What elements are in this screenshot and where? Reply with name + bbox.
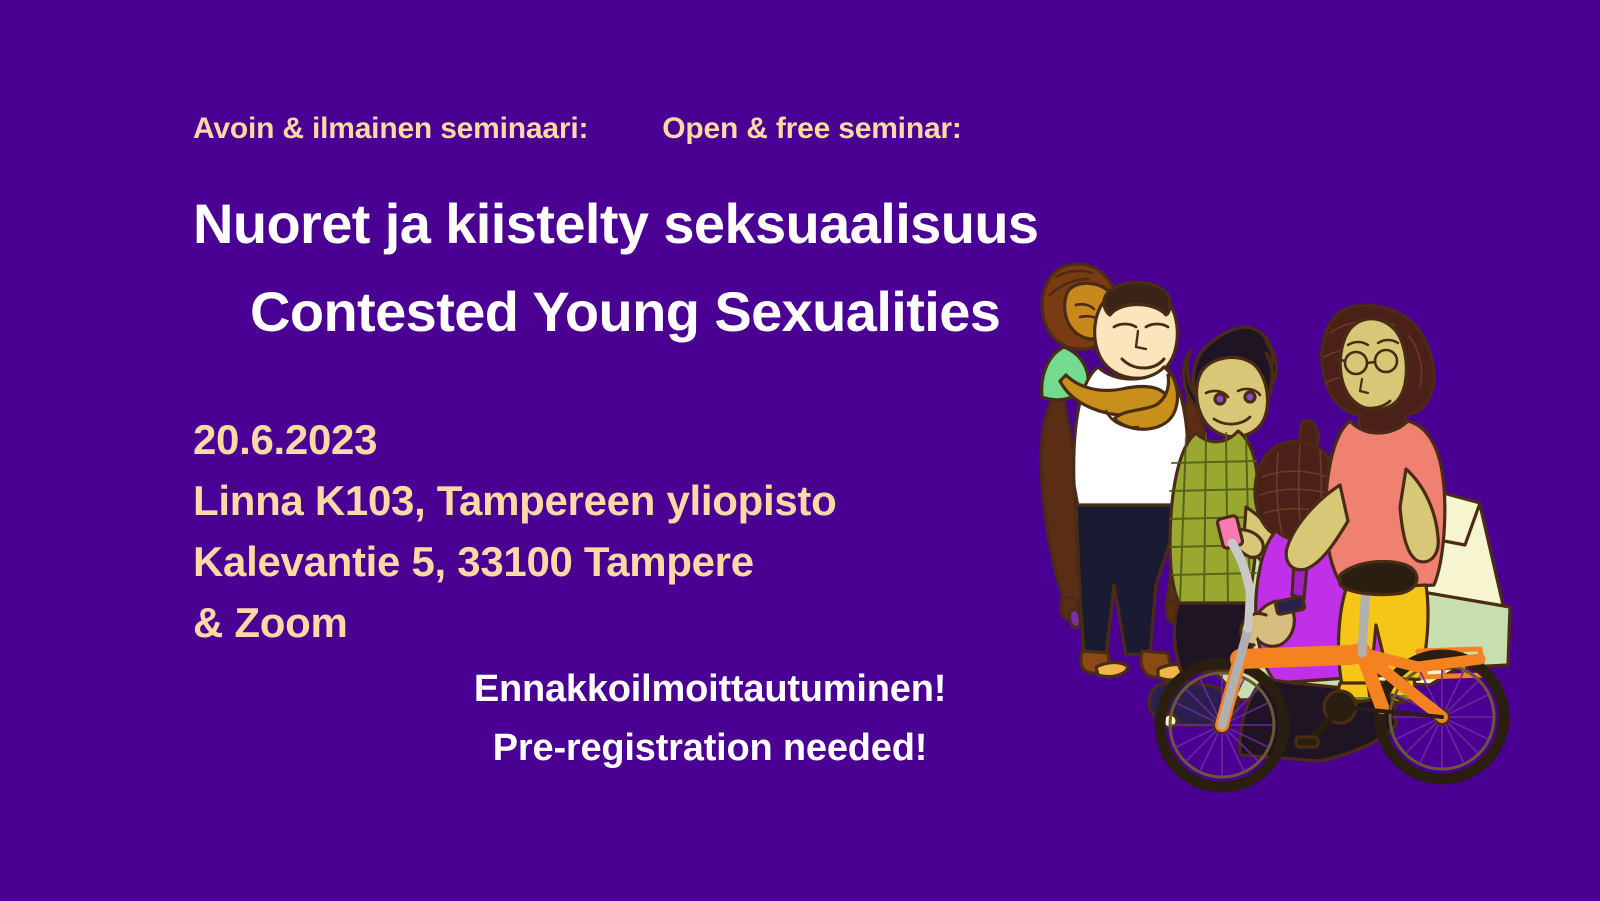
- event-venue: Linna K103, Tampereen yliopisto: [193, 471, 1013, 532]
- headline-finnish: Nuoret ja kiistelty seksuaalisuus: [193, 196, 1093, 252]
- tagline-english: Open & free seminar:: [662, 112, 961, 146]
- tagline-row: Avoin & ilmainen seminaari: Open & free …: [193, 112, 962, 146]
- headline-english: Contested Young Sexualities: [193, 284, 1093, 340]
- event-online-option: & Zoom: [193, 593, 1013, 654]
- registration-notice-finnish: Ennakkoilmoittautuminen!: [410, 660, 1010, 719]
- headline-block: Nuoret ja kiistelty seksuaalisuus Contes…: [193, 196, 1093, 340]
- event-details-block: 20.6.2023 Linna K103, Tampereen yliopist…: [193, 410, 1013, 654]
- group-of-young-people-with-bicycle-illustration: [1010, 255, 1520, 800]
- event-address: Kalevantie 5, 33100 Tampere: [193, 532, 1013, 593]
- registration-notice-block: Ennakkoilmoittautuminen! Pre-registratio…: [410, 660, 1010, 778]
- tagline-finnish: Avoin & ilmainen seminaari:: [193, 112, 588, 146]
- event-date: 20.6.2023: [193, 410, 1013, 471]
- registration-notice-english: Pre-registration needed!: [410, 719, 1010, 778]
- seminar-poster: Avoin & ilmainen seminaari: Open & free …: [0, 0, 1600, 901]
